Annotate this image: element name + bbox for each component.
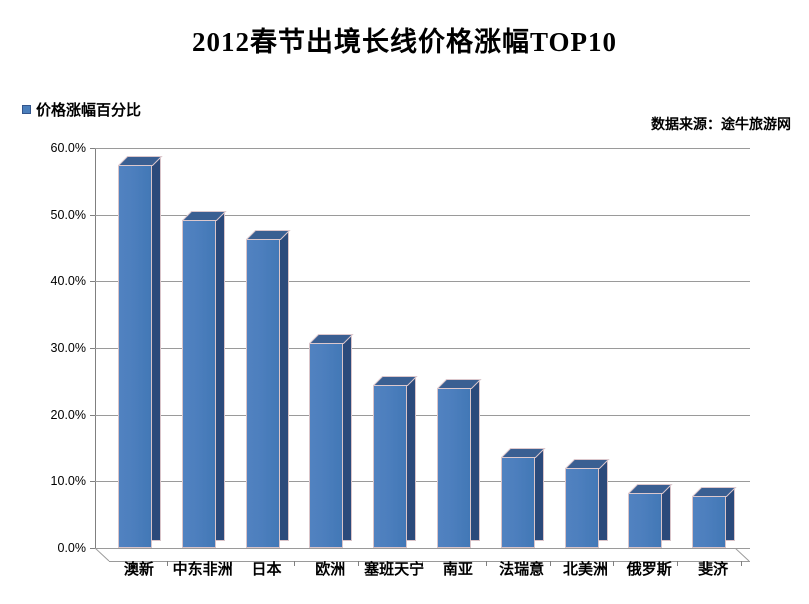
y-tick-label: 20.0% <box>51 408 86 422</box>
bar-top-face <box>246 230 291 241</box>
x-axis-label: 斐济 <box>698 558 728 579</box>
bar-front-face <box>373 385 407 548</box>
y-tick-label: 0.0% <box>58 541 87 555</box>
bar[interactable] <box>501 448 535 548</box>
bar-front-face <box>118 165 152 548</box>
bar-top-face <box>628 484 673 495</box>
bar-front-face <box>692 496 726 548</box>
legend-label: 价格涨幅百分比 <box>36 99 141 120</box>
bar-side-face <box>535 450 544 541</box>
x-axis-label: 欧洲 <box>315 558 345 579</box>
bar-top-face <box>565 459 610 470</box>
x-axis-label: 北美洲 <box>563 558 608 579</box>
bar-front-face <box>182 220 216 548</box>
bar-front-face <box>628 493 662 548</box>
bar-top-face <box>501 448 546 459</box>
bar[interactable] <box>565 459 599 548</box>
bar-side-face <box>407 378 416 541</box>
x-axis-label: 澳新 <box>124 558 154 579</box>
bar-side-face <box>280 232 289 541</box>
bar[interactable] <box>628 484 662 548</box>
bar-top-face <box>182 211 227 222</box>
chart-legend: 价格涨幅百分比 <box>22 99 141 120</box>
source-annotation: 数据来源：途牛旅游网 <box>651 114 791 134</box>
bar-side-face <box>216 213 225 541</box>
x-axis-label: 南亚 <box>443 558 473 579</box>
legend-swatch-icon <box>22 105 31 114</box>
x-axis-label: 中东非洲 <box>173 558 233 579</box>
bar[interactable] <box>118 156 152 548</box>
bar[interactable] <box>373 376 407 548</box>
x-axis-labels: 澳新中东非洲日本欧洲塞班天宁南亚法瑞意北美洲俄罗斯斐济 <box>95 558 775 582</box>
bar-side-face <box>152 158 161 541</box>
x-axis-label: 日本 <box>251 558 281 579</box>
bar[interactable] <box>246 230 280 548</box>
plot-area: 60.0%50.0%40.0%30.0%20.0%10.0%0.0% <box>95 148 750 548</box>
y-tick-label: 50.0% <box>51 208 86 222</box>
y-tick-label: 60.0% <box>51 141 86 155</box>
bar-front-face <box>501 457 535 548</box>
x-axis-label: 塞班天宁 <box>364 558 424 579</box>
bar-side-face <box>343 336 352 541</box>
bar-top-face <box>118 156 163 167</box>
chart-page: 2012春节出境长线价格涨幅TOP10 价格涨幅百分比 数据来源：途牛旅游网 6… <box>0 0 809 604</box>
bar-series <box>95 148 750 548</box>
bar[interactable] <box>182 211 216 548</box>
bar[interactable] <box>437 379 471 548</box>
y-tick-label: 30.0% <box>51 341 86 355</box>
bar-front-face <box>309 343 343 548</box>
bar-side-face <box>471 381 480 541</box>
bar[interactable] <box>309 334 343 548</box>
bar-front-face <box>246 239 280 548</box>
y-tick-label: 40.0% <box>51 274 86 288</box>
bar-front-face <box>565 468 599 548</box>
bar-top-face <box>309 334 354 345</box>
x-axis-label: 俄罗斯 <box>627 558 672 579</box>
y-tick-label: 10.0% <box>51 474 86 488</box>
bar-side-face <box>599 461 608 541</box>
bar-top-face <box>437 379 482 390</box>
bar[interactable] <box>692 487 726 548</box>
x-axis-label: 法瑞意 <box>499 558 544 579</box>
page-title: 2012春节出境长线价格涨幅TOP10 <box>0 20 809 59</box>
bar-top-face <box>692 487 737 498</box>
floor-top-edge <box>95 548 750 549</box>
bar-front-face <box>437 388 471 548</box>
bar-top-face <box>373 376 418 387</box>
